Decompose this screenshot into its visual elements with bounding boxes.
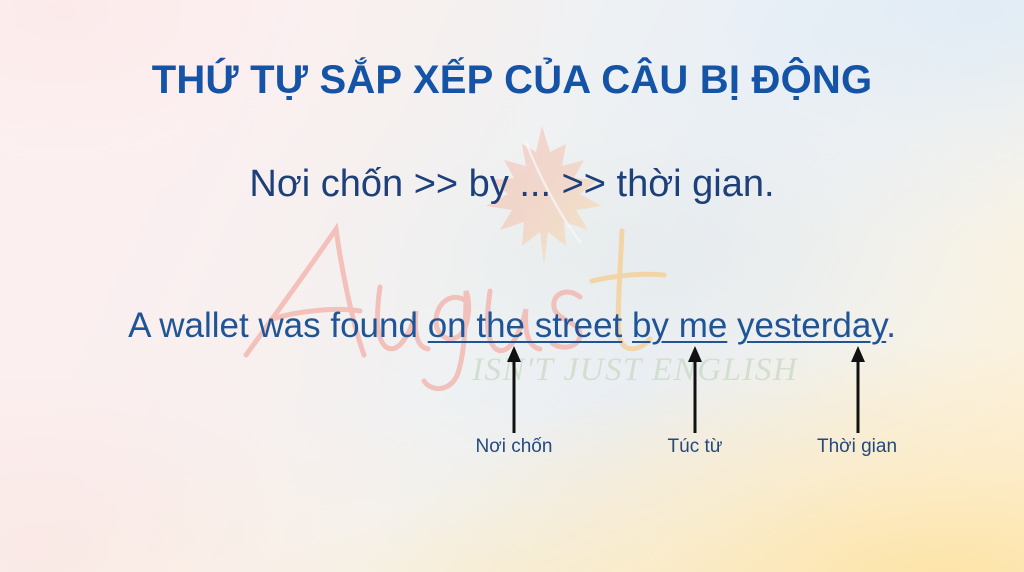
arrow-agent [686, 345, 704, 433]
arrow-place [505, 345, 523, 433]
slide-title: THỨ TỰ SẮP XẾP CỦA CÂU BỊ ĐỘNG [0, 58, 1024, 103]
sentence-place-phrase: on the street [428, 306, 623, 345]
arrow-time [849, 345, 867, 433]
annotation-label-place: Nơi chốn [476, 436, 553, 458]
sentence-space-2 [727, 306, 737, 345]
order-rule-text: Nơi chốn >> by ... >> thời gian. [0, 163, 1024, 206]
sentence-space-1 [622, 306, 632, 345]
slide-canvas: ISN'T JUST ENGLISH THỨ TỰ SẮP XẾP CỦA CÂ… [0, 0, 1024, 572]
annotation-label-agent: Túc từ [668, 436, 723, 458]
annotation-label-time: Thời gian [817, 436, 897, 458]
example-sentence: A wallet was found on the street by me y… [0, 306, 1024, 346]
sentence-lead: A wallet was found [128, 306, 428, 345]
sentence-time-phrase: yesterday [737, 306, 886, 345]
sentence-period: . [886, 306, 896, 345]
sentence-agent-phrase: by me [632, 306, 727, 345]
